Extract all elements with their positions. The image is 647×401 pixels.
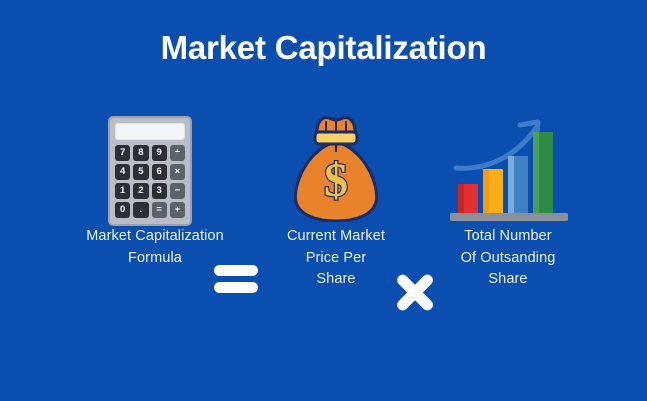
equals-bar-bottom [214, 282, 258, 293]
calculator-key-7: 7 [115, 145, 130, 161]
chart-bar-4-shade [533, 132, 539, 213]
calculator-key-0: 0 [115, 202, 130, 218]
calculator-key-multiply: × [170, 164, 185, 180]
caption-line-1: Total Number [428, 226, 588, 248]
calculator-key-3: 3 [152, 183, 167, 199]
chart-bar-2-shade [483, 169, 489, 213]
calculator-key-1: 1 [115, 183, 130, 199]
calculator-key-5: 5 [133, 164, 148, 180]
formula-row: 7 8 9 ÷ 4 5 6 × 1 2 3 − 0 . = [0, 110, 647, 310]
bar-chart-art-slot [428, 110, 588, 222]
calculator-key-dot: . [133, 202, 148, 218]
calculator-key-4: 4 [115, 164, 130, 180]
chart-base [450, 213, 568, 221]
calculator-key-minus: − [170, 183, 185, 199]
calculator-key-9: 9 [152, 145, 167, 161]
calculator-key-8: 8 [133, 145, 148, 161]
infographic-canvas: Market Capitalization 7 8 9 ÷ 4 5 6 × 1 [0, 0, 647, 401]
calculator-key-2: 2 [133, 183, 148, 199]
money-bag-band [315, 132, 357, 144]
calculator-art-slot: 7 8 9 ÷ 4 5 6 × 1 2 3 − 0 . = [58, 110, 252, 222]
caption-total-number-of-outstanding-share: Total Number Of Outsanding Share [428, 226, 588, 291]
calculator-key-plus: + [170, 202, 185, 218]
caption-line-3: Share [428, 269, 588, 291]
equals-bar-top [214, 265, 258, 276]
calculator-key-divide: ÷ [170, 145, 185, 161]
term-total-number-of-outstanding-share: Total Number Of Outsanding Share [428, 110, 588, 291]
money-bag-art-slot: $ [256, 110, 416, 222]
chart-bar-3-shade [508, 156, 514, 213]
chart-bar-1-shade [458, 184, 464, 213]
caption-line-2: Of Outsanding [428, 248, 588, 270]
dollar-sign-icon: $ [324, 154, 348, 207]
calculator-key-6: 6 [152, 164, 167, 180]
page-title: Market Capitalization [0, 26, 647, 70]
calculator-icon: 7 8 9 ÷ 4 5 6 × 1 2 3 − 0 . = [108, 116, 192, 226]
calculator-key-equals: = [152, 202, 167, 218]
calculator-display [115, 123, 185, 140]
bar-chart-growth-icon [450, 112, 568, 222]
money-bag-icon: $ [286, 114, 386, 222]
calculator-keypad: 7 8 9 ÷ 4 5 6 × 1 2 3 − 0 . = [115, 145, 185, 218]
